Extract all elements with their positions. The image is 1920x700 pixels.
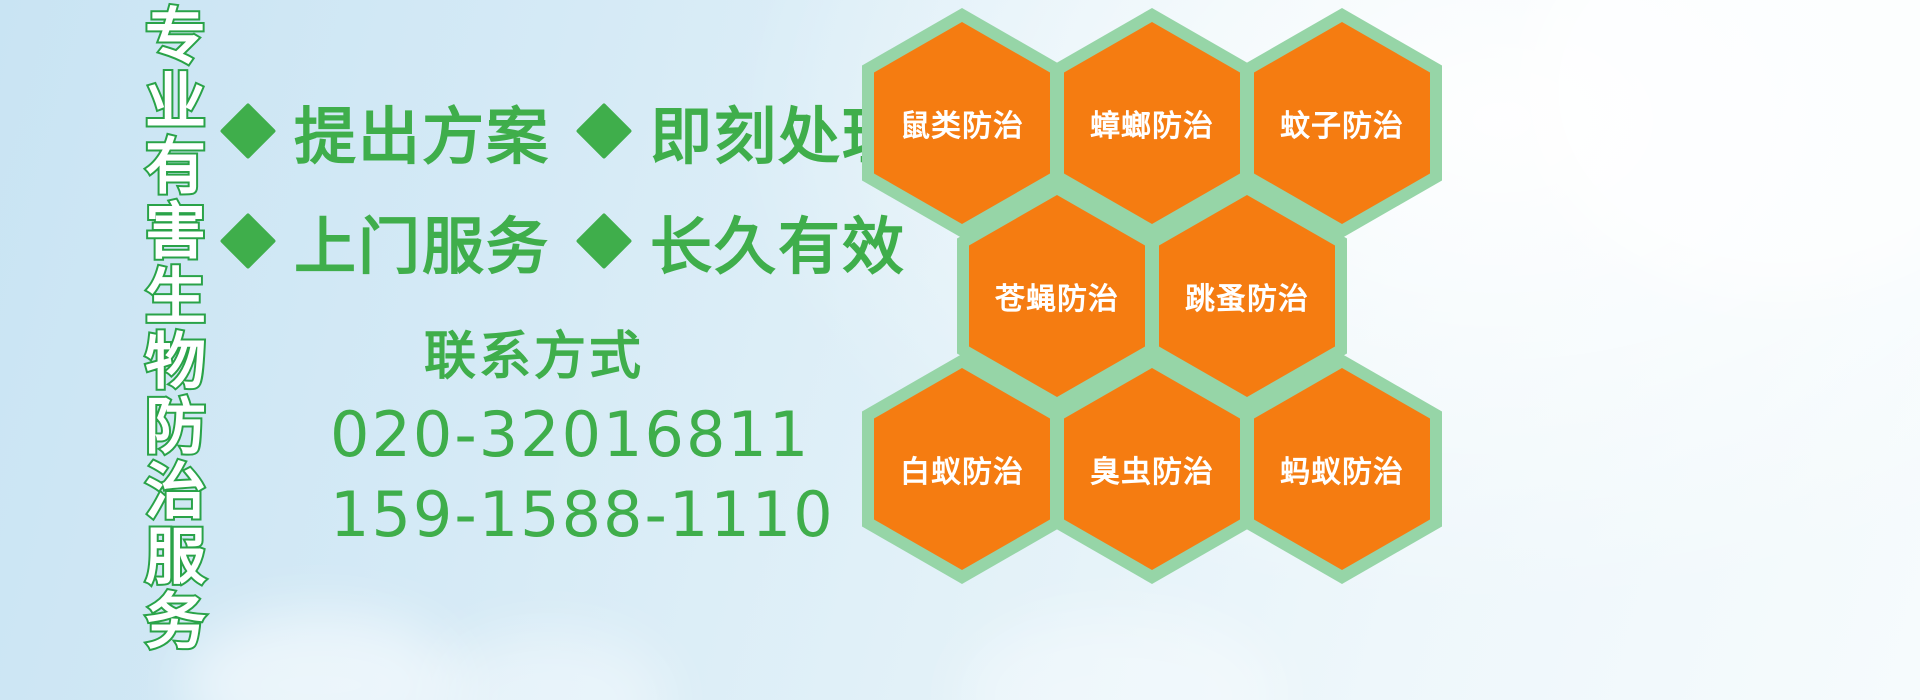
- service-hexagon-grid: 鼠类防治 蟑螂防治 蚊子防治 苍蝇防治 跳蚤防治 白蚁防治 臭虫防治: [856, 0, 1456, 560]
- feature-label: 提出方案: [294, 86, 550, 176]
- background-glow-1: [180, 610, 460, 700]
- feature-item: 上门服务: [228, 196, 550, 286]
- phone-number-mobile[interactable]: 159-1588-1110: [330, 478, 835, 551]
- background-glow-4: [1520, 0, 1920, 300]
- service-label: 鼠类防治: [900, 101, 1024, 145]
- background-glow-3: [960, 610, 1280, 700]
- service-label: 苍蝇防治: [995, 274, 1119, 318]
- vertical-headline: 专业有害生物防治服务: [96, 4, 200, 564]
- diamond-icon: [576, 213, 633, 270]
- phone-number-landline[interactable]: 020-32016811: [330, 398, 810, 471]
- feature-row-2: 上门服务 长久有效: [228, 196, 906, 286]
- contact-heading: 联系方式: [424, 314, 644, 389]
- service-label: 蚂蚁防治: [1280, 447, 1404, 491]
- service-label: 臭虫防治: [1090, 447, 1214, 491]
- feature-item: 提出方案: [228, 86, 550, 176]
- service-label: 白蚁防治: [900, 447, 1024, 491]
- service-label: 蚊子防治: [1280, 101, 1404, 145]
- diamond-icon: [576, 103, 633, 160]
- background-glow-2: [430, 630, 670, 700]
- feature-row-1: 提出方案 即刻处理: [228, 86, 906, 176]
- diamond-icon: [220, 213, 277, 270]
- pest-control-banner: 专业有害生物防治服务 提出方案 即刻处理 上门服务 长久有效 联系方式 020-…: [0, 0, 1920, 700]
- service-label: 蟑螂防治: [1090, 101, 1214, 145]
- feature-label: 上门服务: [294, 196, 550, 286]
- diamond-icon: [220, 103, 277, 160]
- service-label: 跳蚤防治: [1185, 274, 1309, 318]
